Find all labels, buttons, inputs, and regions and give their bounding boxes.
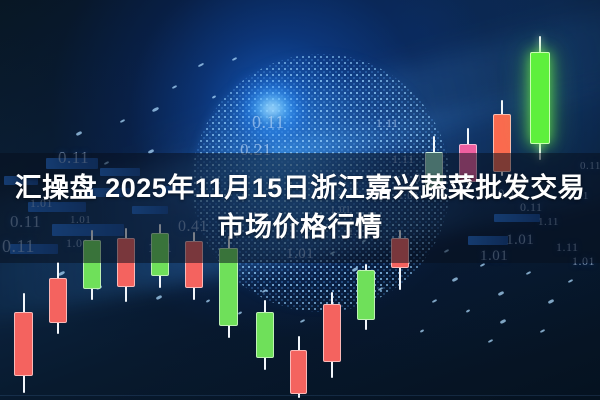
candlestick (290, 336, 307, 398)
candlestick-body (14, 312, 33, 376)
title-block: 汇操盘 2025年11月15日浙江嘉兴蔬菜批发交易 市场价格行情 (0, 153, 600, 263)
title-line-2: 市场价格行情 (218, 209, 383, 246)
candlestick-body (323, 304, 341, 362)
candlestick (14, 293, 33, 393)
bottom-divider (0, 395, 600, 396)
candlestick (530, 36, 550, 160)
candlestick-body (290, 350, 307, 394)
candlestick (256, 300, 274, 370)
candlestick (323, 292, 341, 378)
title-line-1: 汇操盘 2025年11月15日浙江嘉兴蔬菜批发交易 (15, 170, 586, 207)
candlestick (357, 264, 375, 330)
candlestick-body (530, 52, 550, 144)
candlestick-body (357, 270, 375, 320)
candlestick-body (49, 278, 67, 323)
candlestick-body (256, 312, 274, 358)
banner-image: 0.111.010.110.111.011.111.010.110.211.11… (0, 0, 600, 400)
candlestick (49, 262, 67, 334)
